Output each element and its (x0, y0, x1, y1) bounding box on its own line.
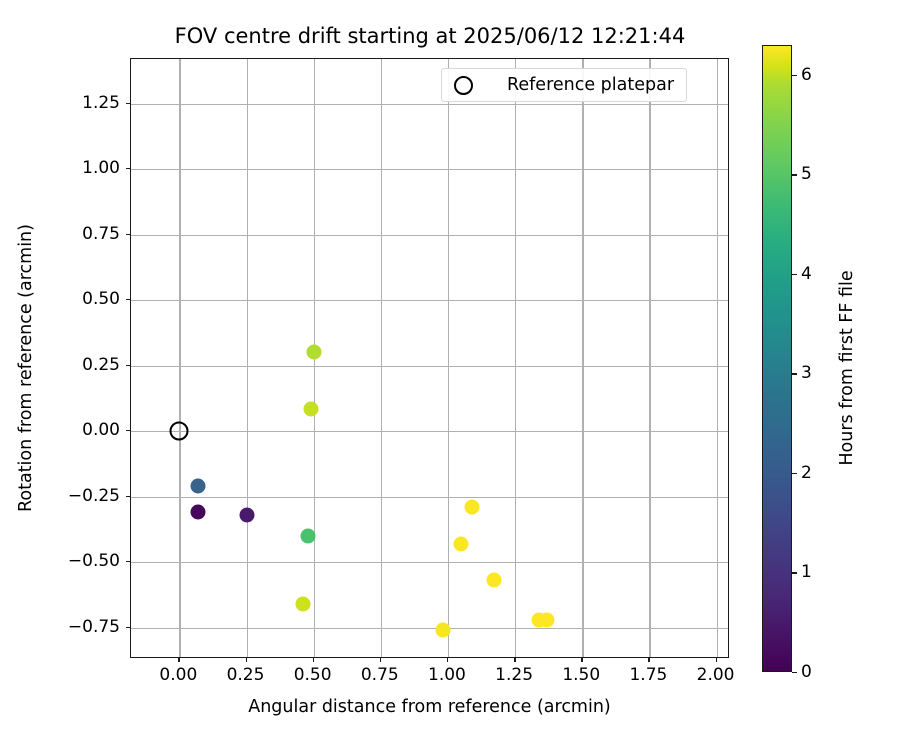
reference-platepar-marker-icon (454, 76, 473, 95)
data-point (239, 507, 254, 522)
x-axis-tick (581, 658, 582, 662)
figure-canvas: FOV centre drift starting at 2025/06/12 … (0, 0, 900, 750)
y-axis-tick (126, 496, 130, 497)
x-axis-tick (648, 658, 649, 662)
x-axis-tick (514, 658, 515, 662)
x-axis-tick-label: 1.75 (629, 665, 667, 685)
colorbar-tick-label: 4 (801, 264, 812, 284)
reference-platepar-point (170, 422, 189, 441)
y-axis-tick-label: 0.25 (82, 355, 120, 375)
data-point (306, 345, 321, 360)
legend: Reference platepar (441, 68, 687, 102)
x-axis-tick-label: 0.50 (294, 665, 332, 685)
data-point (486, 573, 501, 588)
y-axis-tick (126, 103, 130, 104)
scatter-points-layer (131, 59, 728, 657)
x-axis-tick (246, 658, 247, 662)
y-axis-tick (126, 168, 130, 169)
x-axis-tick (313, 658, 314, 662)
data-point (301, 528, 316, 543)
y-axis-tick-label: −0.75 (68, 617, 120, 637)
plot-area (130, 58, 729, 658)
y-axis-tick (126, 561, 130, 562)
x-axis-tick (380, 658, 381, 662)
x-axis-tick-label: 1.25 (495, 665, 533, 685)
colorbar-tick-label: 5 (801, 164, 812, 184)
data-point (191, 479, 206, 494)
colorbar-tick-label: 6 (801, 65, 812, 85)
colorbar (762, 45, 792, 672)
y-axis-tick (126, 627, 130, 628)
x-axis-tick-label: 0.00 (159, 665, 197, 685)
colorbar-tick (792, 274, 797, 275)
data-point (540, 612, 555, 627)
x-axis-tick (178, 658, 179, 662)
x-axis-tick-label: 1.00 (428, 665, 466, 685)
colorbar-tick (792, 473, 797, 474)
legend-entry-label: Reference platepar (507, 75, 674, 95)
y-axis-tick-label: 0.50 (82, 289, 120, 309)
x-axis-tick (716, 658, 717, 662)
y-axis-tick-label: −0.50 (68, 551, 120, 571)
x-axis-tick (447, 658, 448, 662)
x-axis-label: Angular distance from reference (arcmin) (130, 697, 729, 717)
data-point (454, 536, 469, 551)
y-axis-tick-label: −0.25 (68, 486, 120, 506)
colorbar-tick (792, 572, 797, 573)
colorbar-tick (792, 373, 797, 374)
x-axis-tick-label: 0.25 (227, 665, 265, 685)
y-axis-tick-label: 0.00 (82, 420, 120, 440)
colorbar-tick-label: 2 (801, 463, 812, 483)
colorbar-label: Hours from first FF file (837, 218, 857, 518)
colorbar-tick (792, 174, 797, 175)
data-point (435, 623, 450, 638)
y-axis-tick (126, 365, 130, 366)
colorbar-gradient (762, 45, 792, 672)
y-axis-tick-label: 1.25 (82, 93, 120, 113)
y-axis-tick (126, 430, 130, 431)
y-axis-tick-label: 1.00 (82, 158, 120, 178)
x-axis-tick-label: 2.00 (697, 665, 735, 685)
data-point (295, 596, 310, 611)
colorbar-tick (792, 672, 797, 673)
data-point (191, 505, 206, 520)
data-point (465, 500, 480, 515)
y-axis-tick (126, 299, 130, 300)
colorbar-tick-label: 0 (801, 662, 812, 682)
colorbar-tick (792, 75, 797, 76)
colorbar-tick-label: 3 (801, 363, 812, 383)
x-axis-tick-label: 0.75 (361, 665, 399, 685)
colorbar-tick-label: 1 (801, 562, 812, 582)
page-title: FOV centre drift starting at 2025/06/12 … (130, 24, 730, 48)
data-point (303, 401, 318, 416)
y-axis-label: Rotation from reference (arcmin) (16, 218, 36, 518)
y-axis-tick (126, 234, 130, 235)
y-axis-tick-label: 0.75 (82, 224, 120, 244)
x-axis-tick-label: 1.50 (562, 665, 600, 685)
